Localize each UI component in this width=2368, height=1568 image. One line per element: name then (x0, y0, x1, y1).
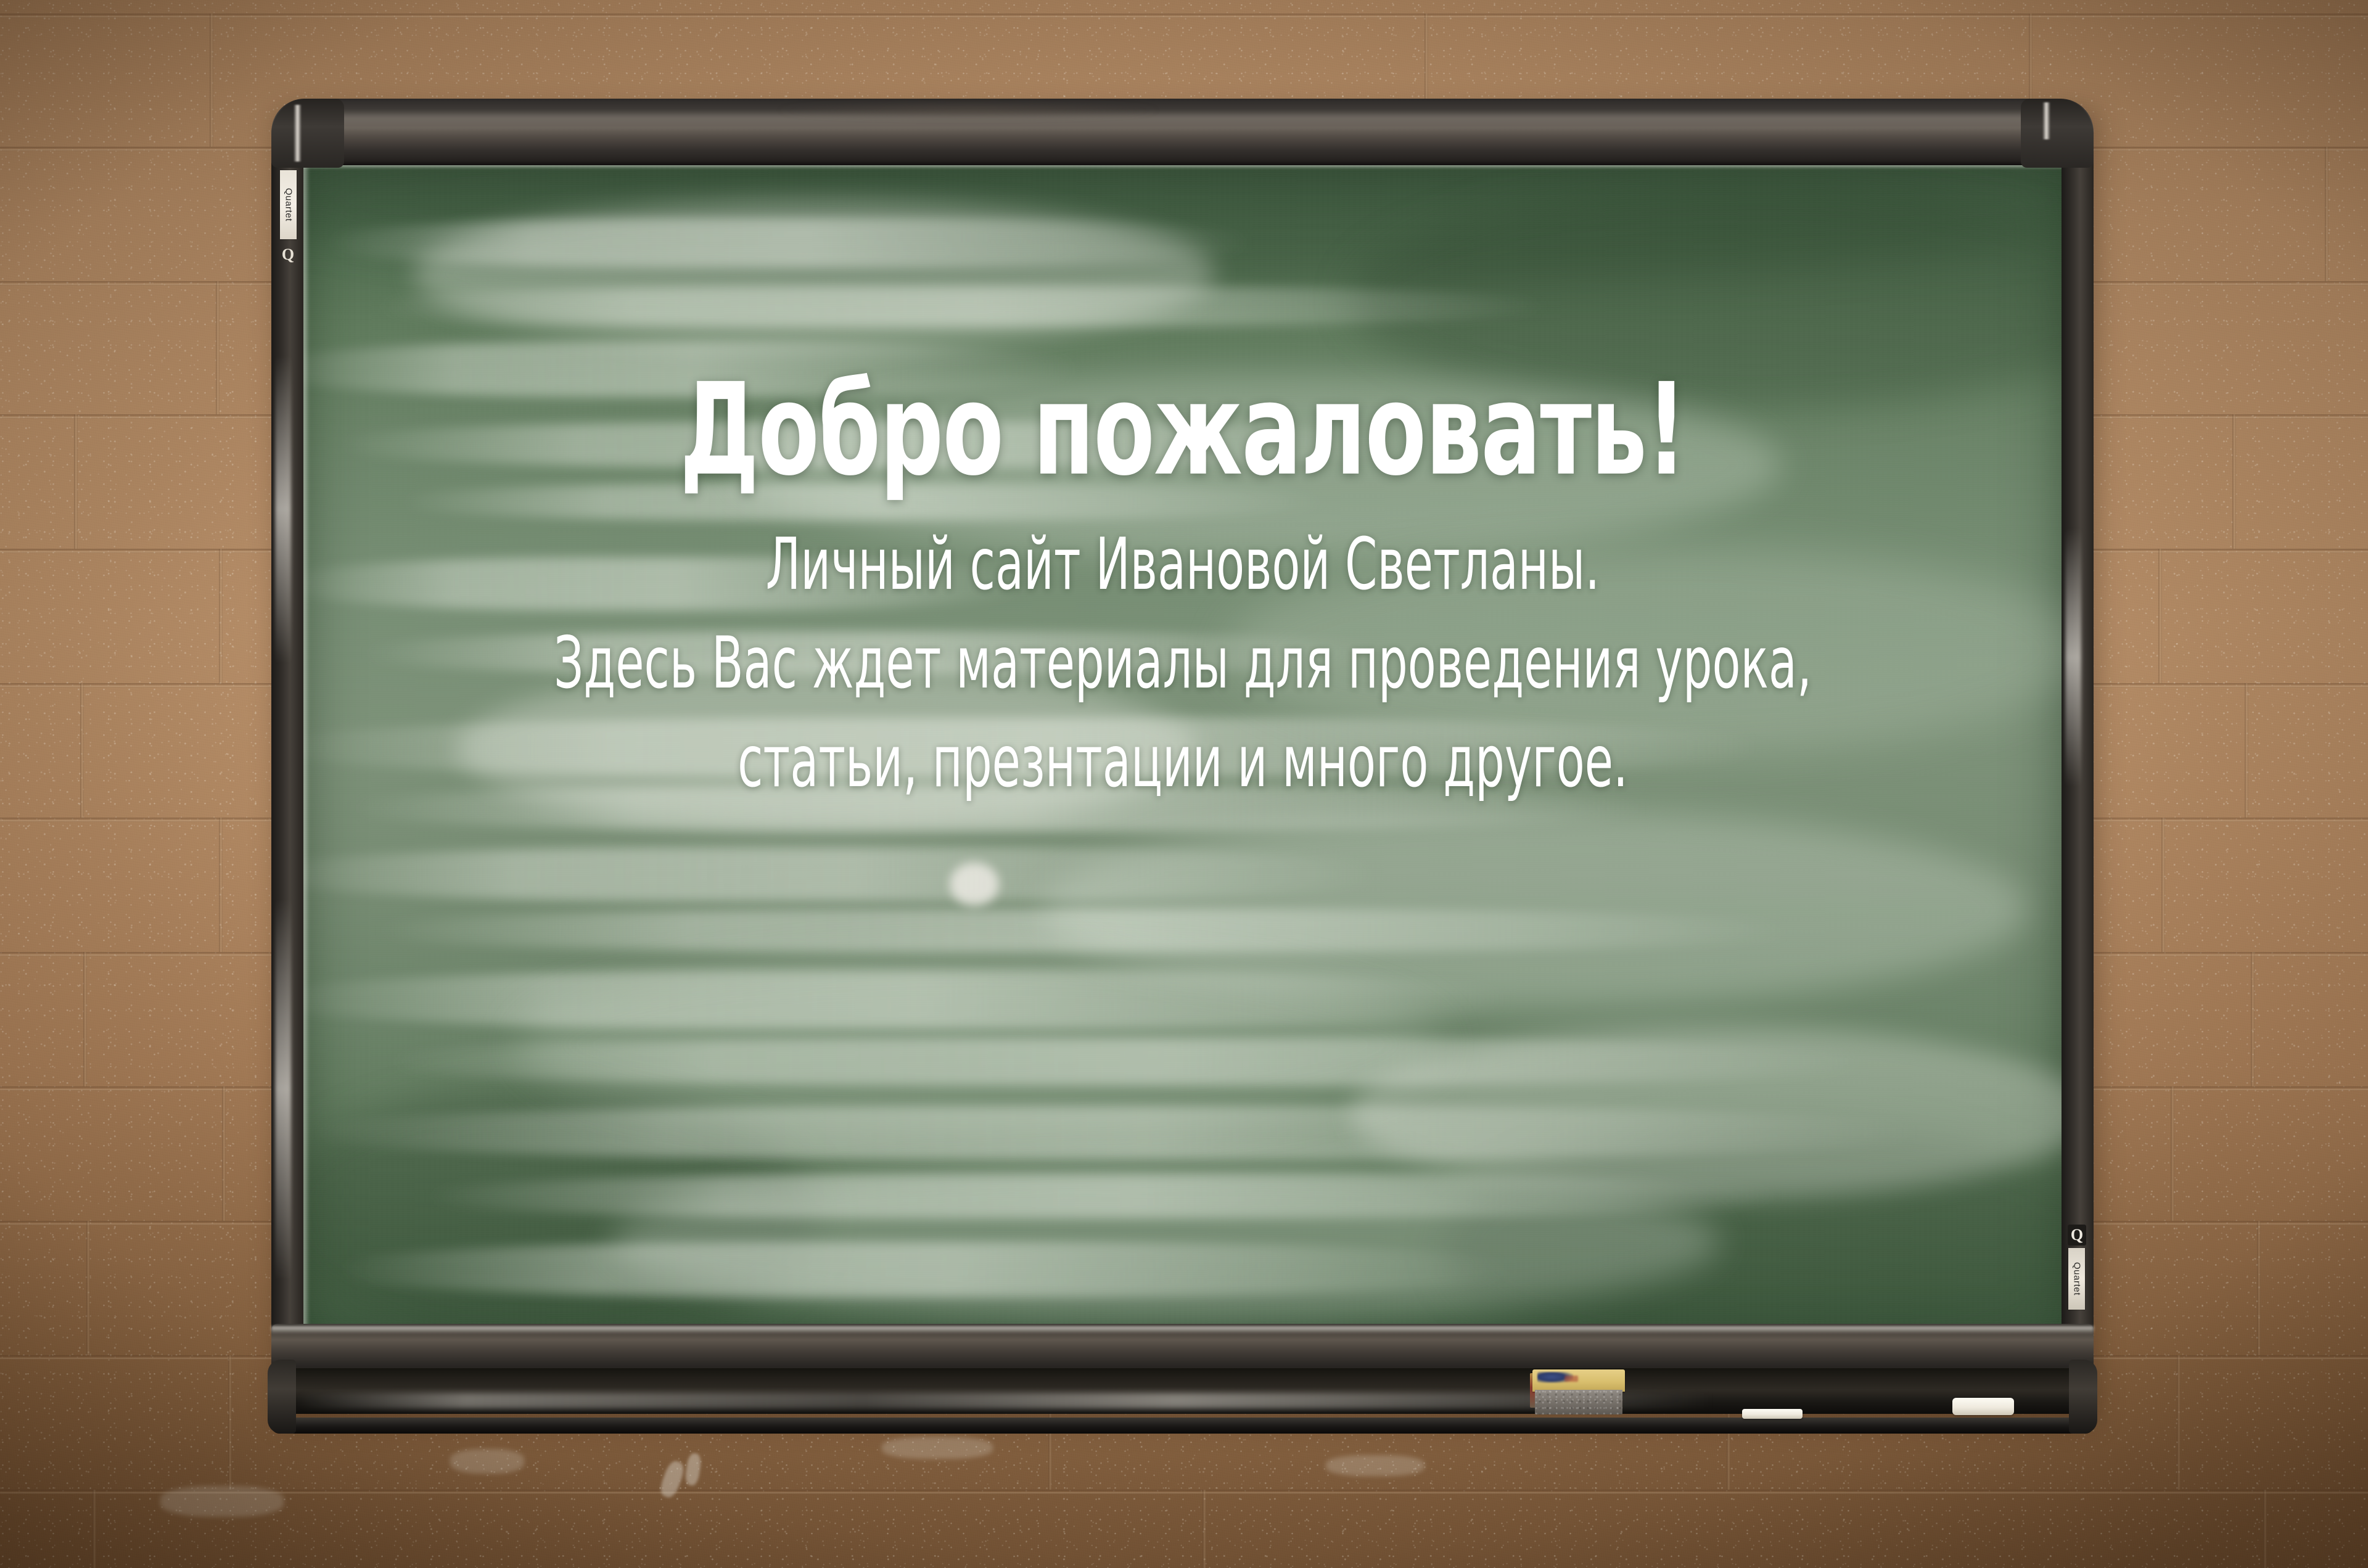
rail-gloss (308, 115, 2057, 127)
mortar-line-vertical (2161, 818, 2165, 952)
chalk-stick[interactable] (1742, 1409, 1803, 1419)
tray-chalk-dust (271, 1326, 2094, 1334)
frame-stile-left (271, 158, 303, 1340)
chalkboard-grain (302, 163, 2063, 1353)
chalkboard-eraser[interactable] (1532, 1369, 1625, 1416)
mortar-line-vertical (2263, 1490, 2267, 1568)
mortar-line-vertical (86, 1221, 90, 1355)
brand-mark-glyph: Q (2068, 1225, 2086, 1246)
chalkboard: Добро пожаловать! Личный сайт Ивановой С… (271, 99, 2094, 1434)
mortar-line-vertical (219, 549, 223, 683)
eraser-printed-label (1564, 1376, 1578, 1382)
frame-stile-right (2062, 158, 2094, 1340)
brand-label-right: Quartet (2068, 1248, 2085, 1310)
mortar-line-vertical (2158, 549, 2162, 683)
tray-ledge-dust (296, 1393, 1714, 1409)
eraser-felt-pad (1535, 1390, 1622, 1414)
wall-chalk-scuff (160, 1486, 284, 1517)
mortar-line-vertical (2245, 683, 2248, 818)
tray-ledge (271, 1368, 2094, 1414)
wall-chalk-scuff (1326, 1455, 1424, 1476)
mortar-line-vertical (228, 1355, 232, 1490)
mortar-line-vertical (74, 414, 78, 549)
brand-label-text: Quartet (283, 188, 294, 221)
mortar-line-vertical (83, 952, 87, 1086)
wall-chalk-scuff (882, 1437, 993, 1459)
frame-chalk-dust (275, 898, 291, 1280)
screenshot-root: Добро пожаловать! Личный сайт Ивановой С… (0, 0, 2368, 1568)
chalkboard-surface: Добро пожаловать! Личный сайт Ивановой С… (302, 163, 2063, 1353)
mortar-line-vertical (1202, 1490, 1206, 1568)
mortar-line-vertical (219, 818, 223, 952)
frame-corner-top-left (271, 99, 344, 168)
mortar-line-vertical (2257, 1221, 2261, 1355)
brand-mark-left-icon: Q (279, 244, 297, 265)
mortar-line-horizontal (0, 14, 2368, 18)
chalk-tray (271, 1324, 2094, 1434)
tray-front-lip (271, 1418, 2094, 1434)
corner-chalk-mark (2042, 102, 2050, 139)
brand-mark-right-icon: Q (2068, 1225, 2086, 1246)
tray-end-cap-right (2069, 1360, 2097, 1434)
mortar-line-vertical (2251, 952, 2255, 1086)
chalk-stick[interactable] (1952, 1398, 2014, 1415)
mortar-line-vertical (92, 1490, 96, 1568)
mortar-line-vertical (210, 14, 213, 147)
mortar-line-vertical (2232, 414, 2236, 549)
mortar-line-vertical (2171, 1086, 2174, 1221)
tray-end-cap-left (268, 1360, 296, 1434)
eraser-wooden-top (1532, 1369, 1625, 1392)
mortar-line-vertical (2325, 147, 2329, 281)
brand-label-left: Quartet (280, 170, 297, 239)
mortar-line-vertical (80, 683, 84, 818)
wall-chalk-scuff (684, 1453, 702, 1487)
brand-mark-glyph: Q (279, 244, 297, 265)
frame-corner-top-right (2021, 99, 2094, 168)
mortar-line-vertical (2177, 1355, 2181, 1490)
rail-chalk-dust (777, 104, 1159, 117)
frame-rail-top (271, 99, 2094, 165)
brand-label-text: Quartet (2071, 1262, 2082, 1295)
mortar-line-vertical (216, 281, 220, 414)
corner-chalk-mark (294, 105, 302, 162)
wall-chalk-scuff (450, 1449, 524, 1474)
frame-chalk-dust (2065, 528, 2081, 787)
mortar-line-horizontal (0, 1490, 2368, 1494)
frame-chalk-dust (275, 355, 291, 663)
mortar-line-vertical (222, 1086, 226, 1221)
